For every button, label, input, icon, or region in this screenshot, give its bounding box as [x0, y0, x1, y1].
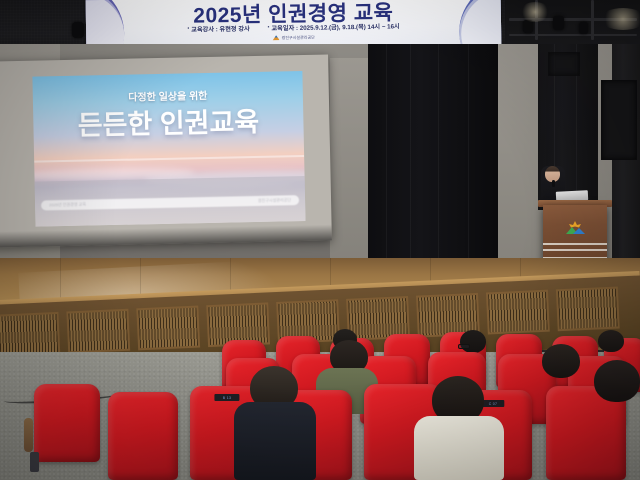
banner-instructor: 교육강사 : 유현정 강사	[191, 26, 250, 34]
audience-person	[460, 330, 486, 353]
horizon-line	[34, 155, 304, 163]
projection-screen: 다정한 일상을 위한 든든한 인권교육 2025년 인권경영 교육 광진구시설관…	[0, 54, 332, 247]
auditorium-photo: 2025년 인권경영 교육 ▪교육강사 : 유현정 강사▪교육일자 : 2025…	[0, 0, 640, 480]
bullet-icon: ▪	[268, 24, 270, 30]
loudspeaker-cabinet	[601, 80, 637, 160]
seat[interactable]	[34, 384, 100, 462]
bullet-icon: ▪	[187, 26, 189, 32]
seat-armrest	[24, 418, 33, 452]
stage-light-icon	[523, 20, 533, 33]
stage-light-icon	[72, 22, 84, 38]
seat-number-plate: B 13	[214, 394, 239, 401]
light-glow	[520, 2, 550, 22]
stage-light-icon	[553, 16, 564, 30]
slide-footer-left: 2025년 인권경영 교육	[49, 202, 86, 209]
stage-curtain	[368, 44, 498, 266]
banner-date: 교육일자 : 2025.9.12.(금), 9.18.(목) 14시 ~ 16시	[271, 23, 399, 32]
audience-torso	[414, 416, 504, 480]
audience-person	[542, 344, 580, 378]
stage-light-icon	[579, 22, 588, 34]
slide-headline: 든든한 인권교육	[33, 99, 304, 144]
organization-mark-icon	[273, 35, 280, 40]
light-glow	[600, 8, 640, 30]
audience-person	[594, 360, 640, 402]
audience-person	[598, 330, 624, 352]
truss-bar	[509, 34, 637, 36]
podium-stripe	[543, 249, 607, 251]
seat-base	[30, 452, 39, 472]
podium-stripe	[543, 243, 607, 245]
microphone-icon	[552, 180, 555, 187]
sunburst-mountain-emblem-icon	[562, 221, 588, 235]
loudspeaker-cabinet	[548, 52, 580, 76]
banner-organization-label: 광진구시설관리공단	[282, 35, 315, 41]
truss-bar	[591, 0, 594, 40]
slide-content: 다정한 일상을 위한 든든한 인권교육 2025년 인권경영 교육 광진구시설관…	[32, 71, 305, 227]
audience-torso	[234, 402, 316, 480]
seat-number-plate: C 07	[481, 400, 504, 407]
slide-footer-right: 광진구시설관리공단	[258, 197, 291, 204]
seat[interactable]	[108, 392, 178, 480]
